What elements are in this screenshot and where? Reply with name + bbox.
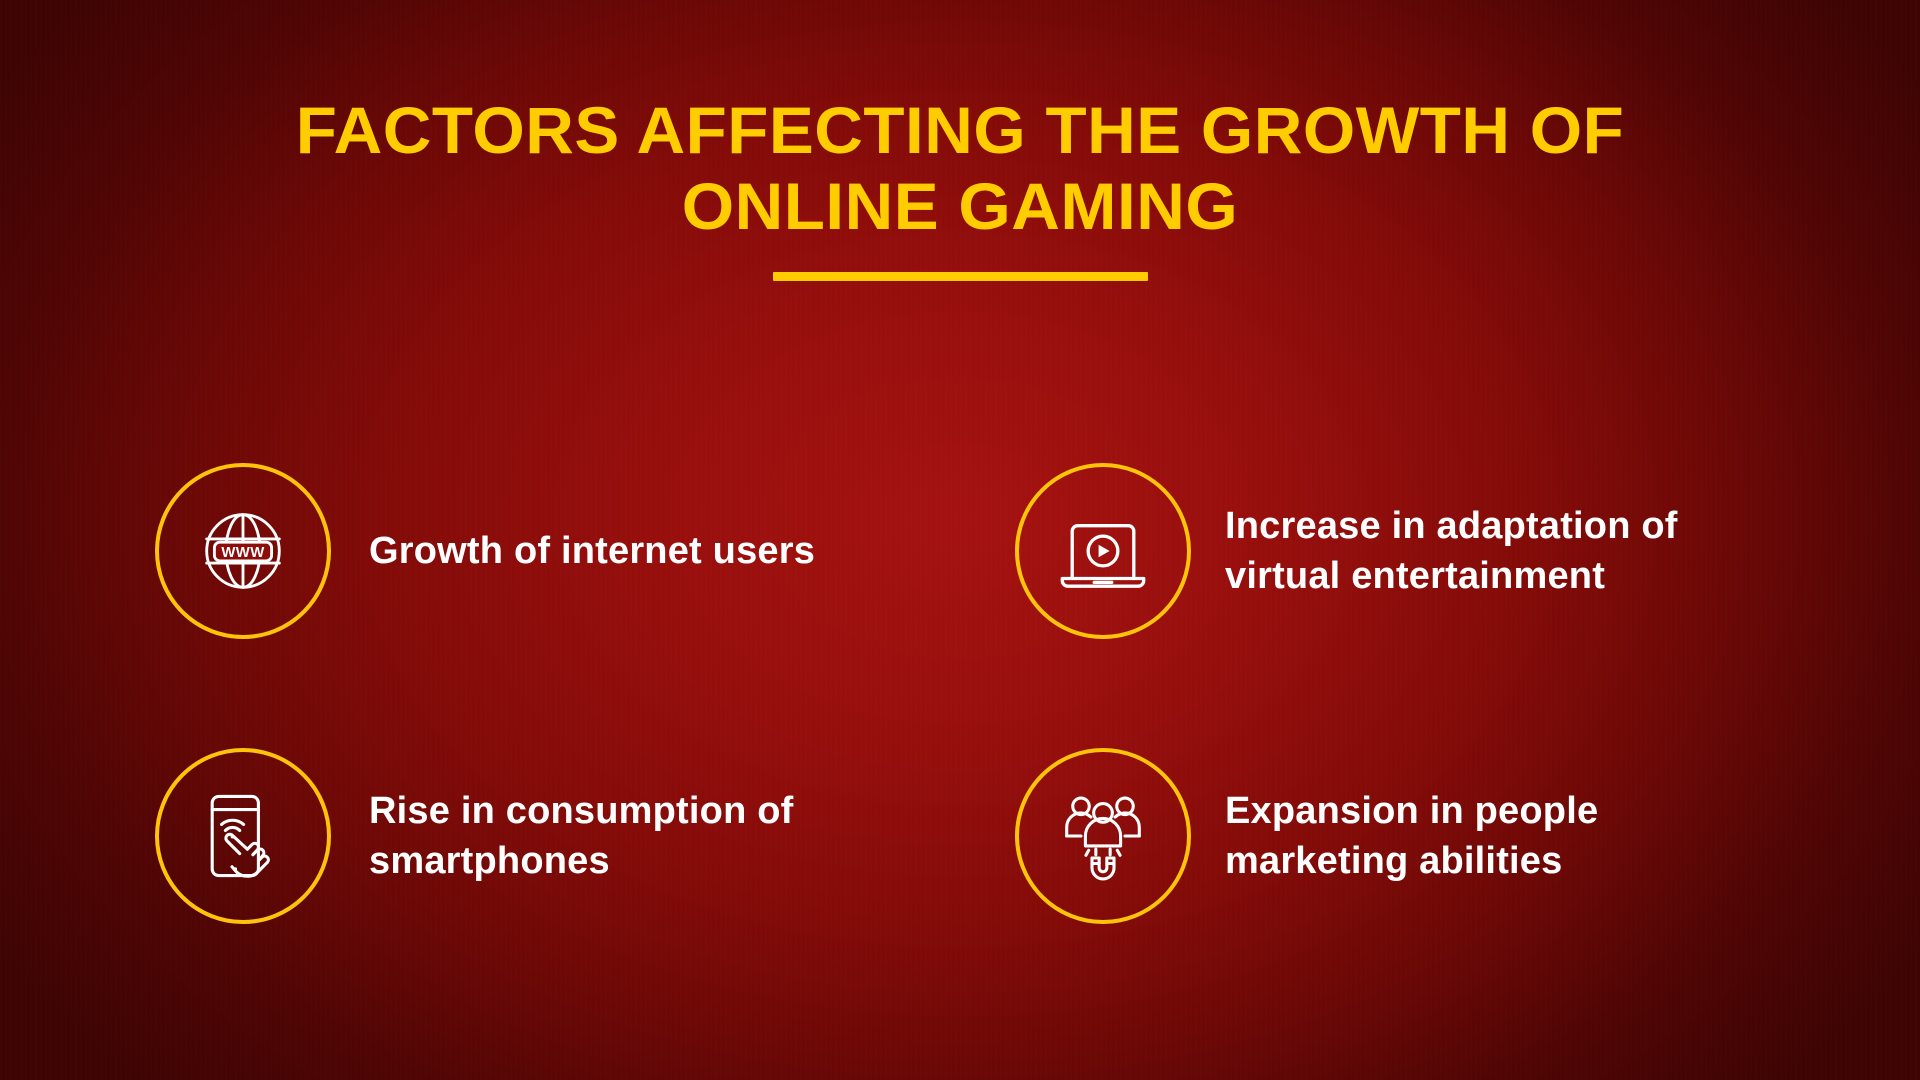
page-title: FACTORS AFFECTING THE GROWTH OF ONLINE G… (0, 92, 1920, 281)
globe-www-icon: WWW (188, 496, 298, 606)
factor-label-internet-users: Growth of internet users (369, 526, 815, 576)
infographic-slide: FACTORS AFFECTING THE GROWTH OF ONLINE G… (0, 0, 1920, 1080)
icon-circle-smartphone (155, 748, 331, 924)
title-line-2: ONLINE GAMING (0, 168, 1920, 244)
smartphone-tap-icon (188, 781, 298, 891)
svg-text:WWW: WWW (221, 544, 264, 560)
factors-grid: WWW Growth of internet users Increase in… (155, 408, 1775, 978)
title-line-1: FACTORS AFFECTING THE GROWTH OF (0, 92, 1920, 168)
people-magnet-icon (1048, 781, 1158, 891)
factor-item-people-marketing[interactable]: Expansion in people marketing abilities (1015, 693, 1775, 978)
factor-item-internet-users[interactable]: WWW Growth of internet users (155, 408, 1015, 693)
factor-label-smartphones: Rise in consumption of smartphones (369, 786, 929, 886)
icon-circle-laptop (1015, 463, 1191, 639)
icon-circle-people-magnet (1015, 748, 1191, 924)
factor-item-virtual-entertainment[interactable]: Increase in adaptation of virtual entert… (1015, 408, 1775, 693)
title-divider (773, 272, 1148, 281)
icon-circle-globe: WWW (155, 463, 331, 639)
factor-item-smartphones[interactable]: Rise in consumption of smartphones (155, 693, 1015, 978)
factor-label-virtual-entertainment: Increase in adaptation of virtual entert… (1225, 501, 1725, 601)
factor-label-people-marketing: Expansion in people marketing abilities (1225, 786, 1725, 886)
laptop-play-icon (1048, 496, 1158, 606)
